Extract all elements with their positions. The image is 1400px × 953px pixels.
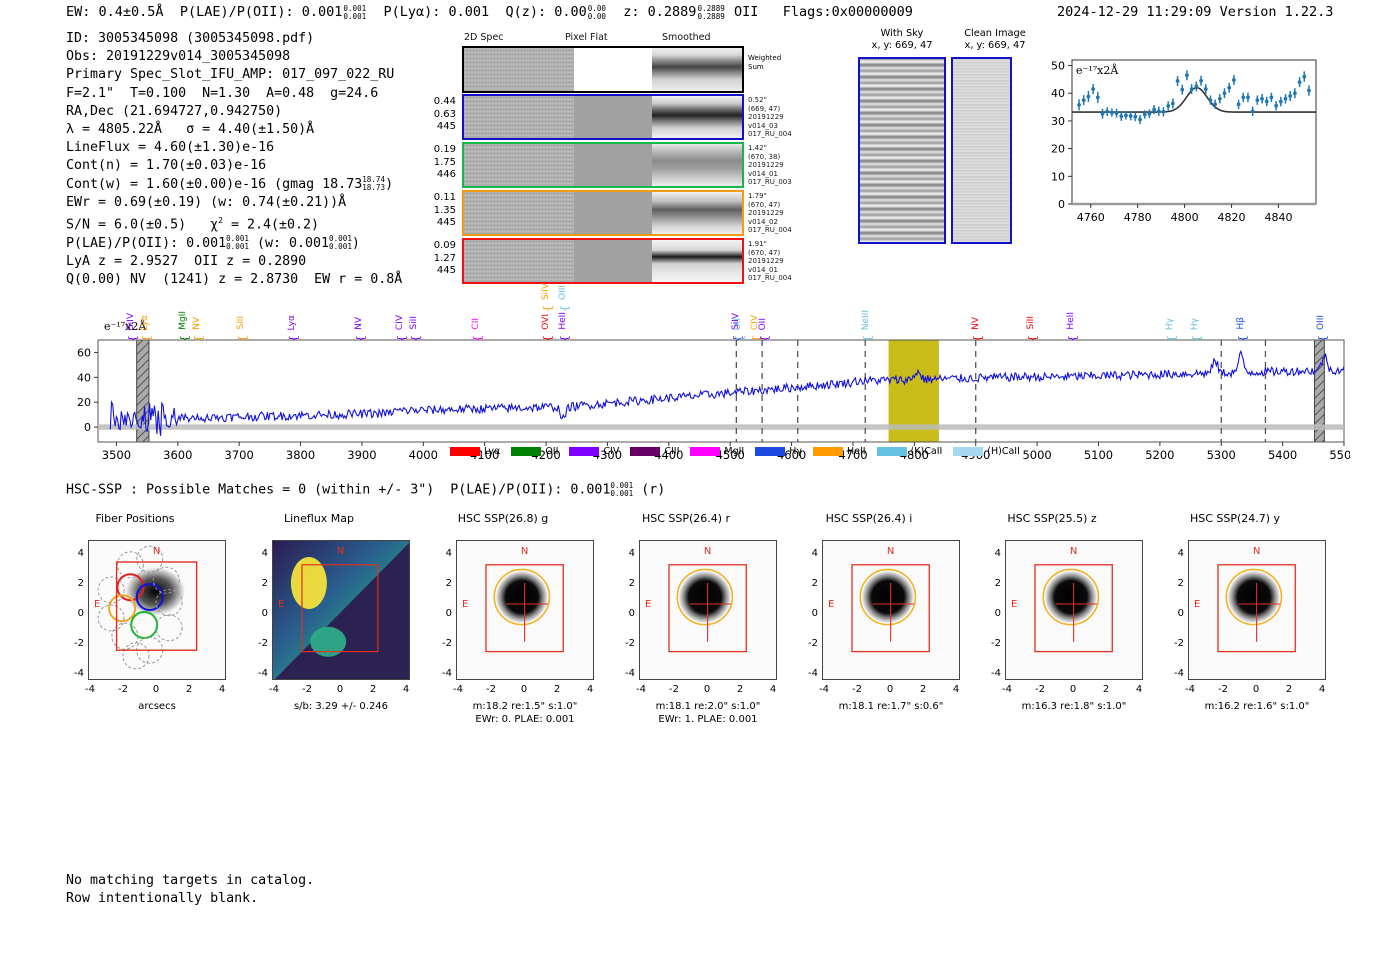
cutout-xtick: -2 [1213,684,1233,695]
hsc-line-post: (r) [633,482,665,497]
spectrum-line-bracket: { [471,335,484,342]
hsc-plae-frac: 0.0010.001 [610,482,633,497]
legend-label: CIV [603,446,619,457]
spectrum-line-bracket: { [1165,335,1178,342]
info-redshifts: LyA z = 2.9527 OII z = 0.2890 [66,254,306,269]
cutout-title: HSC SSP(24.7) y [1160,512,1310,525]
cutout-xtick: 4 [580,684,600,695]
cutout-xtick: -4 [1180,684,1200,695]
spectrum-line-label: OIII [1316,315,1326,330]
header-ew: EW: 0.4±0.5Å [66,4,164,20]
header-timestamp: 2024-12-29 11:29:09 [1057,4,1211,20]
cutout-ytick: -4 [802,668,818,679]
spectrum-line-bracket: { [1236,335,1249,342]
spectrum-line-bracket: { [1316,335,1329,342]
legend-item: Hγ [755,446,802,457]
spectrum-line-label: OVI [541,314,551,330]
footer-notes: No matching targets in catalog. Row inte… [66,872,314,908]
spectrum-line-label: OIII [558,285,568,300]
header-qz-label: Q(z): 0.00 [505,4,586,20]
header-summary-line: EW: 0.4±0.5Å P(LAE)/P(OII): 0.0010.0010.… [66,4,913,20]
spectrum-line-label: SiIV [126,313,136,330]
legend-item: CIV [569,446,619,457]
cutout-ytick: -2 [985,638,1001,649]
info-cont-n: Cont(n) = 1.70(±0.03)e-16 [66,158,266,173]
spectrum-line-label: Lyα [140,315,150,330]
legend-swatch [569,447,599,456]
spectrum-line-label: SiIV [541,283,551,300]
svg-text:e⁻¹⁷x2Å: e⁻¹⁷x2Å [1076,63,1119,77]
cutout-ytick: 0 [436,608,452,619]
north-label: N [704,546,711,557]
cutout-xtick: 0 [880,684,900,695]
spec2d-row-meta-1: 1.42" (670, 38) 20191229 v014_01 017_RU_… [748,144,792,187]
header-z-frac: 0.28890.2889 [696,5,725,20]
col-title-2dspec: 2D Spec [464,32,504,43]
svg-text:0: 0 [84,421,91,434]
info-gmag-frac: 18.7418.73 [362,176,385,191]
spectrum-line-bracket: { [192,335,205,342]
spectrum-line-bracket: { [126,335,139,342]
with-sky-coords: x, y: 669, 47 [872,40,933,51]
spec2d-row-meta-0: 0.52" (669, 47) 20191229 v014_03 017_RU_… [748,96,792,139]
cutout-ytick: -4 [252,668,268,679]
line-fit-plot: 0102030405047604780480048204840e⁻¹⁷x2Å [1032,52,1322,234]
cutout-caption: arcsecs [72,700,242,713]
svg-text:50: 50 [1051,60,1065,73]
cutout-caption: s/b: 3.29 +/- 0.246 [256,700,426,713]
north-label: N [887,546,894,557]
cutout-xtick: 0 [1246,684,1266,695]
legend-swatch [953,447,983,456]
svg-text:3800: 3800 [286,448,315,462]
svg-text:3600: 3600 [163,448,192,462]
weighted-sum-label: Weighted Sum [748,54,781,71]
spectrum-line-bracket: { [861,335,874,342]
cutout-ytick: 0 [802,608,818,619]
cutout-caption: m:16.3 re:1.8" s:1.0" [989,700,1159,713]
svg-text:5500: 5500 [1329,448,1350,462]
cutout-xtick: 0 [1063,684,1083,695]
legend-label: Lyα [484,446,500,457]
cutout-xtick: -2 [1030,684,1050,695]
legend-swatch [450,447,480,456]
legend-swatch [511,447,541,456]
cutout-xtick: 2 [363,684,383,695]
info-primary-spec-slot: Primary Spec_Slot_IFU_AMP: 017_097_022_R… [66,67,394,82]
legend-label: OII [545,446,558,457]
spectrum-line-label: SiII [236,316,246,330]
spectrum-line-bracket: { [140,335,153,342]
north-label: N [1070,546,1077,557]
header-z-type: OII [734,4,758,20]
with-sky-image [858,57,946,244]
north-label: N [337,546,344,557]
spectrum-line-label: NV [354,317,364,330]
cutout-xtick: 2 [547,684,567,695]
cutout-xtick: -2 [297,684,317,695]
legend-label: (H)CaII [987,446,1020,457]
legend-label: (K)CaII [911,446,943,457]
svg-text:4800: 4800 [1171,211,1199,224]
spectrum-line-label: Hγ [1190,318,1200,330]
spec2d-row-meta-2: 1.79" (670, 47) 20191229 v014_02 017_RU_… [748,192,792,235]
legend-item: (K)CaII [877,446,943,457]
info-cont-w-end: ) [385,177,393,192]
info-params: F=2.1" T=0.100 N=1.30 A=0.48 g=24.6 [66,86,378,101]
spectrum-line-bracket: { [395,335,408,342]
hsc-line-pre: HSC-SSP : Possible Matches = 0 (within +… [66,482,610,497]
svg-text:4000: 4000 [409,448,438,462]
cutout-ytick: -4 [436,668,452,679]
info-lineflux: LineFlux = 4.60(±1.30)e-16 [66,140,274,155]
east-label: E [1194,599,1200,610]
cutout-ytick: 4 [1168,548,1184,559]
svg-text:20: 20 [77,396,91,409]
cutout-ytick: 4 [68,548,84,559]
east-label: E [1011,599,1017,610]
info-chi2: = 2.4(±0.2) [223,217,319,232]
cutout-caption: m:18.2 re:1.5" s:1.0" [440,700,610,713]
cutout-ytick: -2 [619,638,635,649]
cutout-caption: m:18.1 re:2.0" s:1.0" [623,700,793,713]
legend-swatch [630,447,660,456]
header-flags: Flags:0x00000009 [783,4,913,20]
cutout-caption-2: EWr: 0. PLAE: 0.001 [440,713,610,726]
cutout-xtick: -4 [264,684,284,695]
cutout-ytick: -4 [1168,668,1184,679]
info-radec: RA,Dec (21.694727,0.942750) [66,104,282,119]
cutout-ytick: 4 [802,548,818,559]
cutout-xtick: -4 [997,684,1017,695]
cutout-ytick: 2 [802,578,818,589]
cutout-xtick: -2 [481,684,501,695]
cutout-image-img[interactable] [456,540,594,680]
cutout-image-img[interactable] [639,540,777,680]
svg-text:40: 40 [1051,87,1065,100]
cutout-ytick: 2 [1168,578,1184,589]
cutout-title: HSC SSP(26.8) g [428,512,578,525]
north-label: N [153,546,160,557]
info-plae-mid: (w: 0.001 [249,236,329,251]
header-version: Version 1.22.3 [1220,4,1334,20]
cutout-ytick: -2 [1168,638,1184,649]
with-sky-title-text: With Sky [881,28,924,39]
cutout-xtick: 0 [697,684,717,695]
cutout-image-img[interactable] [822,540,960,680]
north-label: N [521,546,528,557]
cutout-title: HSC SSP(26.4) i [794,512,944,525]
east-label: E [645,599,651,610]
spec2d-row-left-values-0: 0.44 0.63 445 [412,96,456,134]
spectrum-line-bracket: { [541,305,554,312]
spec2d-row-left-values-1: 0.19 1.75 446 [412,144,456,182]
spectrum-line-bracket: { [287,335,300,342]
header-qz-frac: 0.000.00 [587,5,607,20]
cutout-title: HSC SSP(26.4) r [611,512,761,525]
legend-item: OII [511,446,558,457]
spectrum-line-bracket: { [541,335,554,342]
cutout-ytick: 2 [619,578,635,589]
spectrum-line-bracket: { [1066,335,1079,342]
cutout-ytick: -2 [802,638,818,649]
info-plae: P(LAE)/P(OII): 0.001 [66,236,226,251]
cutout-ytick: 4 [985,548,1001,559]
svg-text:4760: 4760 [1077,211,1105,224]
cutout-ytick: 4 [436,548,452,559]
cutout-image-fibers[interactable] [88,540,226,680]
cutout-ytick: -4 [619,668,635,679]
clean-image-title-text: Clean Image [964,28,1026,39]
legend-label: Hγ [789,446,802,457]
svg-text:30: 30 [1051,115,1065,128]
svg-text:5100: 5100 [1084,448,1113,462]
spectrum-line-label: NeIII [861,310,871,330]
cutout-xtick: -4 [448,684,468,695]
col-title-pixelflat: Pixel Flat [565,32,608,43]
spectrum-line-label: OII [758,318,768,330]
spectrum-line-bracket: { [409,335,422,342]
cutout-caption: m:16.2 re:1.6" s:1.0" [1172,700,1342,713]
cutout-title: HSC SSP(25.5) z [977,512,1127,525]
spectrum-line-bracket: { [354,335,367,342]
cutout-xtick: -2 [847,684,867,695]
svg-text:5400: 5400 [1268,448,1297,462]
north-label: N [1253,546,1260,557]
svg-text:4780: 4780 [1124,211,1152,224]
cutout-ytick: -4 [985,668,1001,679]
col-title-smoothed: Smoothed [662,32,711,43]
cutout-image-img[interactable] [1188,540,1326,680]
info-plae-frac: 0.0010.001 [226,235,249,250]
cutout-xtick: 4 [212,684,232,695]
info-plae-w-frac: 0.0010.001 [329,235,352,250]
legend-item: CIII [630,446,679,457]
svg-text:3500: 3500 [102,448,131,462]
cutout-ytick: 2 [68,578,84,589]
east-label: E [828,599,834,610]
spectrum-line-bracket: { [971,335,984,342]
svg-text:4820: 4820 [1218,211,1246,224]
cutout-xtick: 4 [396,684,416,695]
cutout-xtick: 2 [1096,684,1116,695]
cutout-xtick: -4 [631,684,651,695]
spectrum-line-label: NV [192,317,202,330]
header-meta: 2024-12-29 11:29:09 Version 1.22.3 [1057,4,1333,20]
cutout-ytick: 0 [252,608,268,619]
east-label: E [462,599,468,610]
legend-label: MgII [724,446,744,457]
cutout-xtick: 2 [1279,684,1299,695]
spectrum-line-bracket: { [558,305,571,312]
cutout-ytick: 0 [985,608,1001,619]
cutout-image-img[interactable] [1005,540,1143,680]
spectrum-line-label: HeII [1066,312,1076,330]
spectrum-line-label: Lyα [287,315,297,330]
cutout-title: Lineflux Map [244,512,394,525]
legend-label: HeII [847,446,866,457]
spectrum-line-label: CIV [395,315,405,330]
svg-text:40: 40 [77,371,91,384]
legend-item: HeII [813,446,866,457]
east-label: E [278,599,284,610]
hsc-ssp-summary: HSC-SSP : Possible Matches = 0 (within +… [66,482,665,497]
info-obs: Obs: 20191229v014_3005345098 [66,49,290,64]
spec2d-row-left-values-3: 0.09 1.27 445 [412,240,456,278]
spectrum-line-label: HeII [558,312,568,330]
info-sn: S/N = 6.0(±0.5) χ [66,217,218,232]
cutout-ytick: 2 [436,578,452,589]
cutout-ytick: 2 [985,578,1001,589]
spectrum-line-label: Hγ [1165,318,1175,330]
header-plya: P(Lyα): 0.001 [384,4,490,20]
cutout-ytick: 0 [68,608,84,619]
svg-text:10: 10 [1051,170,1065,183]
cutout-xtick: 0 [146,684,166,695]
spectrum-line-label: SiII [409,316,419,330]
info-cont-w: Cont(w) = 1.60(±0.00)e-16 (gmag 18.73 [66,177,362,192]
spec2d-weighted-sum-row [462,46,744,93]
spectrum-line-label: Hβ [1236,317,1246,330]
cutout-ytick: 0 [619,608,635,619]
svg-text:4840: 4840 [1264,211,1292,224]
cutout-ytick: -4 [68,668,84,679]
cutout-caption-2: EWr: 1. PLAE: 0.001 [623,713,793,726]
footer-line-2: Row intentionally blank. [66,891,258,906]
legend-swatch [813,447,843,456]
cutout-xtick: 2 [913,684,933,695]
header-z-label: z: 0.2889 [623,4,696,20]
svg-text:3900: 3900 [347,448,376,462]
cutout-xtick: 2 [179,684,199,695]
cutout-ytick: -2 [252,638,268,649]
cutout-ytick: 4 [252,548,268,559]
spectrum-line-label: SiII [1026,316,1036,330]
full-spectrum-plot: 0204060350036003700380039004000410042004… [60,278,1350,468]
cutout-ytick: 0 [1168,608,1184,619]
cutout-ytick: -2 [68,638,84,649]
legend-item: (H)CaII [953,446,1020,457]
legend-swatch [690,447,720,456]
svg-text:60: 60 [77,346,91,359]
cutout-xtick: -4 [80,684,100,695]
info-lambda-sigma: λ = 4805.22Å σ = 4.40(±1.50)Å [66,122,314,137]
clean-image-image [951,57,1012,244]
spectrum-legend: LyαOIICIVCIIIMgIIHγHeII(K)CaII(H)CaII [450,446,1031,457]
cutout-caption: m:18.1 re:1.7" s:0.6" [806,700,976,713]
legend-label: CIII [664,446,679,457]
cutout-ytick: 2 [252,578,268,589]
cutout-xtick: -4 [814,684,834,695]
svg-text:3700: 3700 [225,448,254,462]
cutout-xtick: 4 [946,684,966,695]
cutout-ytick: 4 [619,548,635,559]
clean-image-title: Clean Image x, y: 669, 47 [930,28,1060,52]
legend-item: Lyα [450,446,500,457]
spectrum-line-label: CII [471,318,481,330]
header-plae-frac: 0.0010.001 [342,5,367,20]
spectrum-line-bracket: { [1190,335,1203,342]
spec2d-row-left-values-2: 0.11 1.35 445 [412,192,456,230]
legend-swatch [755,447,785,456]
object-info-block: ID: 3005345098 (3005345098.pdf) Obs: 201… [66,30,402,289]
cutout-xtick: -2 [664,684,684,695]
east-label: E [94,599,100,610]
svg-text:20: 20 [1051,143,1065,156]
spectrum-line-bracket: { [558,335,571,342]
cutout-xtick: 4 [1129,684,1149,695]
spectrum-line-label: NV [971,317,981,330]
header-plae-label: P(LAE)/P(OII): 0.001 [180,4,343,20]
info-plae-end: ) [352,236,360,251]
spectrum-line-label: MgII [178,311,188,330]
svg-text:0: 0 [1058,198,1065,211]
spec2d-row-meta-3: 1.91" (670, 47) 20191229 v014_01 017_RU_… [748,240,792,283]
cutout-xtick: 2 [730,684,750,695]
cutout-xtick: 4 [763,684,783,695]
svg-text:5300: 5300 [1207,448,1236,462]
spectrum-line-bracket: { [733,335,746,342]
svg-text:5200: 5200 [1145,448,1174,462]
spectrum-line-bracket: { [758,335,771,342]
info-id: ID: 3005345098 (3005345098.pdf) [66,31,314,46]
cutout-xtick: 0 [330,684,350,695]
cutout-xtick: 4 [1312,684,1332,695]
cutout-title: Fiber Positions [60,512,210,525]
spectrum-line-bracket: { [236,335,249,342]
footer-line-1: No matching targets in catalog. [66,873,314,888]
legend-swatch [877,447,907,456]
clean-image-coords: x, y: 669, 47 [965,40,1026,51]
spectrum-line-label: OII [733,318,743,330]
spectrum-line-bracket: { [178,335,191,342]
spectrum-line-bracket: { [1026,335,1039,342]
cutout-image-lineflux[interactable] [272,540,410,680]
cutout-xtick: -2 [113,684,133,695]
legend-item: MgII [690,446,744,457]
info-ewr: EWr = 0.69(±0.19) (w: 0.74(±0.21))Å [66,195,346,210]
cutout-ytick: -2 [436,638,452,649]
cutout-xtick: 0 [514,684,534,695]
